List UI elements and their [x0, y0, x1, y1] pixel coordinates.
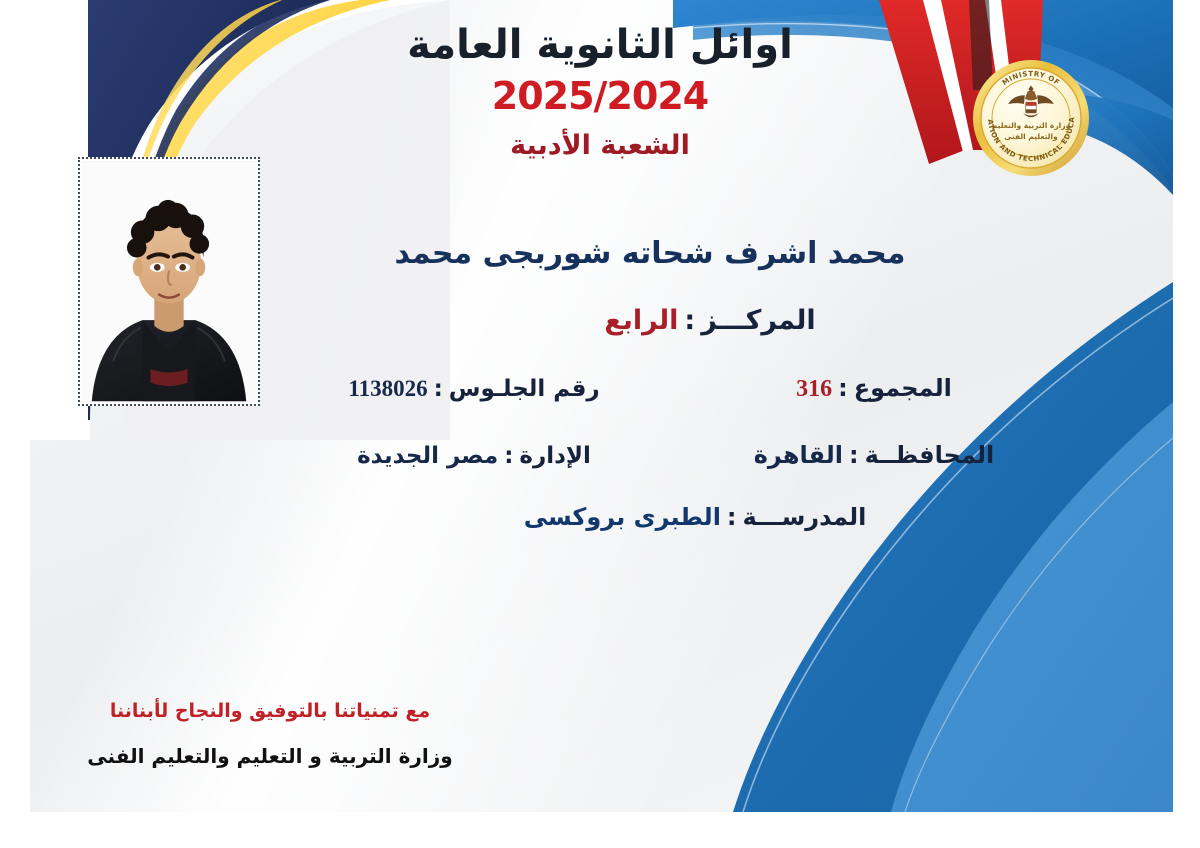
page-edge-right	[1173, 0, 1200, 848]
governorate-value: القاهرة	[754, 441, 843, 469]
total-and-seat-row: المجموع : 316 رقم الجلـوس : 1138026	[250, 374, 1050, 403]
student-info: محمد اشرف شحاته شوربجى محمد المركـــز : …	[250, 236, 1050, 531]
total-row: المجموع : 316	[698, 374, 1050, 403]
governorate-row: المحافظــة : القاهرة	[698, 441, 1050, 469]
total-colon: :	[832, 374, 854, 402]
rank-row: المركـــز : الرابع	[250, 305, 1050, 336]
seat-value: 1138026	[348, 376, 427, 402]
governorate-colon: :	[843, 441, 865, 469]
student-photo	[78, 157, 260, 406]
page-title: اوائل الثانوية العامة	[0, 22, 1200, 68]
page-edge-bottom	[0, 812, 1200, 848]
seat-colon: :	[428, 376, 449, 402]
student-name: محمد اشرف شحاته شوربجى محمد	[250, 236, 1050, 271]
seat-row: رقم الجلـوس : 1138026	[250, 376, 698, 402]
school-row: المدرســـة : الطبرى بروكسى	[250, 503, 1050, 531]
administration-colon: :	[498, 443, 519, 469]
seat-label: رقم الجلـوس	[449, 376, 600, 402]
footer-ministry: وزارة التربية و التعليم والتعليم الفنى	[70, 744, 470, 768]
total-label: المجموع	[854, 374, 952, 402]
total-value: 316	[796, 376, 832, 403]
student-photo-image	[82, 161, 256, 402]
rank-colon: :	[678, 305, 701, 336]
certificate-page: وزارة التربية والتعليم والتعليم الفنى MI…	[0, 0, 1200, 848]
header: اوائل الثانوية العامة 2025/2024 الشعبة ا…	[0, 22, 1200, 161]
school-value: الطبرى بروكسى	[524, 503, 721, 531]
school-label: المدرســـة	[743, 503, 867, 531]
school-colon: :	[721, 503, 743, 531]
administration-value: مصر الجديدة	[357, 443, 498, 469]
administration-row: الإدارة : مصر الجديدة	[250, 443, 698, 469]
rank-value: الرابع	[604, 305, 678, 336]
governorate-label: المحافظــة	[865, 441, 995, 469]
footer: مع تمنياتنا بالتوفيق والنجاح لأبناننا وز…	[70, 700, 470, 768]
rank-label: المركـــز	[701, 305, 815, 336]
footer-wish: مع تمنياتنا بالتوفيق والنجاح لأبناننا	[70, 700, 470, 722]
academic-year: 2025/2024	[0, 74, 1200, 118]
administration-label: الإدارة	[519, 443, 591, 469]
governorate-and-administration-row: المحافظــة : القاهرة الإدارة : مصر الجدي…	[250, 441, 1050, 469]
